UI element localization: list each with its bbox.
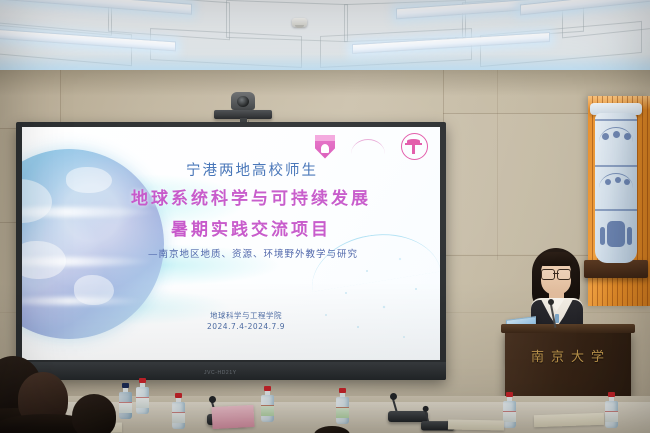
slide-title-line-1: 地球系统科学与可持续发展 xyxy=(22,184,440,209)
presenter-glasses xyxy=(541,269,571,278)
porcelain-vase xyxy=(590,103,642,268)
lecture-hall-photo: 宁港两地高校师生 地球系统科学与可持续发展 暑期实践交流项目 —南京地区地质、资… xyxy=(0,0,650,433)
slide-footer-org: 地球科学与工程学院 xyxy=(52,311,440,322)
podium-microphone-head xyxy=(548,299,554,305)
ceiling xyxy=(0,0,650,76)
slide-line-1: 宁港两地高校师生 xyxy=(22,159,440,180)
water-bottle[interactable] xyxy=(503,392,516,428)
water-bottle[interactable] xyxy=(261,386,274,422)
projection-display[interactable]: 宁港两地高校师生 地球系统科学与可持续发展 暑期实践交流项目 —南京地区地质、资… xyxy=(16,122,446,380)
smoke-detector-icon xyxy=(292,18,307,27)
podium-top-edge xyxy=(501,324,635,333)
presentation-slide: 宁港两地高校师生 地球系统科学与可持续发展 暑期实践交流项目 —南京地区地质、资… xyxy=(22,127,440,360)
video-conference-camera xyxy=(212,92,274,124)
water-bottle[interactable] xyxy=(605,392,618,428)
water-bottle[interactable] xyxy=(336,388,349,424)
podium-nameplate: 南京大学 xyxy=(505,346,631,365)
presenter-fringe xyxy=(539,252,573,266)
wall-top-shadow xyxy=(0,70,650,96)
documents[interactable] xyxy=(534,413,604,427)
slide-title-line-2: 暑期实践交流项目 xyxy=(22,215,440,240)
documents[interactable] xyxy=(448,420,504,431)
podium: 南京大学 xyxy=(505,330,631,396)
water-bottle[interactable] xyxy=(172,393,185,429)
water-bottle[interactable] xyxy=(119,383,132,419)
slide-footer-dates: 2024.7.4-2024.7.9 xyxy=(52,322,440,333)
display-brand-label: JVC-HD21Y xyxy=(204,370,237,376)
slide-subtitle: —南京地区地质、资源、环境野外教学与研究 xyxy=(22,246,440,260)
water-bottle[interactable] xyxy=(136,378,149,414)
vase-body xyxy=(595,113,637,263)
presenter-badge xyxy=(555,314,559,323)
camera-lens-icon xyxy=(237,96,249,107)
audience-head xyxy=(72,394,116,433)
wall-panel xyxy=(444,114,589,254)
display-bezel: JVC-HD21Y xyxy=(16,362,446,380)
slide-text-block: 宁港两地高校师生 地球系统科学与可持续发展 暑期实践交流项目 —南京地区地质、资… xyxy=(22,127,440,360)
slide-footer: 地球科学与工程学院 2024.7.4-2024.7.9 xyxy=(22,311,440,333)
document-folder[interactable] xyxy=(211,405,254,429)
